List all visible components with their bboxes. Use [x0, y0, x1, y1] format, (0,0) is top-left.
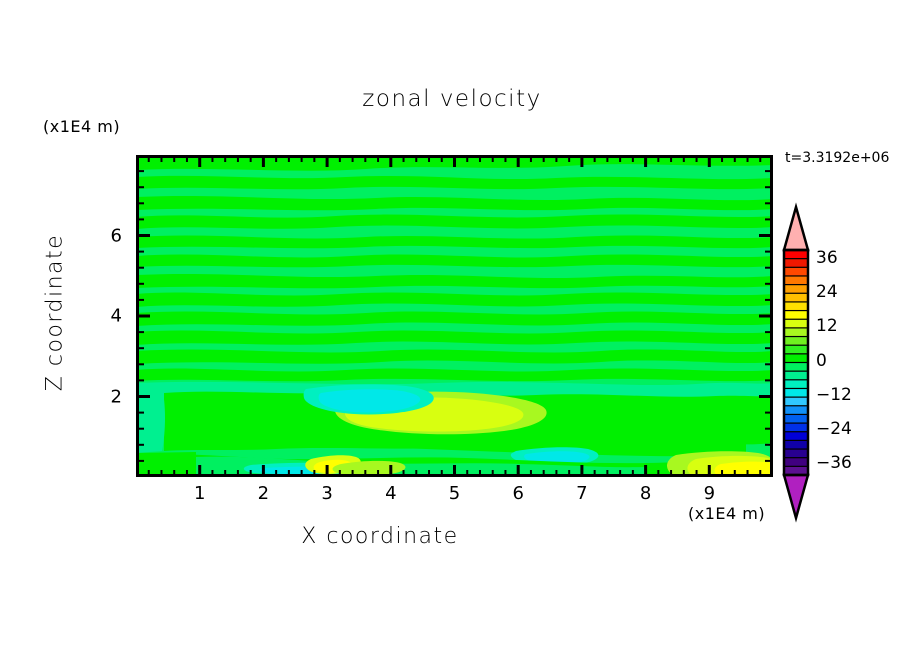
x-tick-label: 6 — [512, 483, 523, 504]
colorbar-svg — [782, 205, 810, 520]
colorbar-band — [784, 363, 808, 372]
colorbar-tick-label: 24 — [816, 282, 838, 302]
colorbar-tick-label: 0 — [816, 351, 827, 371]
timestamp-annotation: t=3.3192e+06 — [785, 150, 889, 166]
colorbar-band — [784, 293, 808, 302]
colorbar-bands — [784, 250, 808, 475]
x-tick-label: 1 — [194, 483, 205, 504]
colorbar-band — [784, 319, 808, 328]
x-axis-unit-label: (x1E4 m) — [688, 504, 765, 523]
colorbar-band — [784, 250, 808, 259]
colorbar-over-arrow — [784, 207, 808, 250]
colorbar-band — [784, 276, 808, 285]
colorbar-band — [784, 337, 808, 346]
x-tick-label: 8 — [640, 483, 651, 504]
figure-root: zonal velocity (x1E4 m) t=3.3192e+06 — [0, 0, 904, 654]
colorbar-band — [784, 406, 808, 415]
x-tick-label: 3 — [321, 483, 332, 504]
colorbar-band — [784, 371, 808, 380]
y-axis-unit-label: (x1E4 m) — [43, 117, 120, 136]
contour-field — [136, 155, 773, 477]
colorbar-band — [784, 414, 808, 423]
colorbar-band — [784, 449, 808, 458]
page-title: zonal velocity — [0, 86, 904, 112]
colorbar-tick-label: −12 — [816, 385, 852, 405]
colorbar-band — [784, 397, 808, 406]
colorbar-band — [784, 285, 808, 294]
colorbar-under-arrow — [784, 475, 808, 518]
colorbar-tick-label: −24 — [816, 419, 852, 439]
y-tick-label: 4 — [100, 306, 122, 327]
x-axis-title: X coordinate — [0, 524, 760, 549]
x-tick-label: 9 — [704, 483, 715, 504]
colorbar-band — [784, 345, 808, 354]
colorbar-band — [784, 432, 808, 441]
colorbar-band — [784, 328, 808, 337]
colorbar-band — [784, 380, 808, 389]
x-tick-label: 2 — [258, 483, 269, 504]
y-tick-label: 2 — [100, 386, 122, 407]
colorbar-band — [784, 458, 808, 467]
colorbar-band — [784, 423, 808, 432]
colorbar-band — [784, 354, 808, 363]
colorbar-band — [784, 440, 808, 449]
colorbar[interactable] — [782, 205, 810, 520]
x-tick-label: 4 — [385, 483, 396, 504]
y-axis-title: Z coordinate — [43, 213, 68, 413]
colorbar-band — [784, 311, 808, 320]
colorbar-tick-label: −36 — [816, 453, 852, 473]
colorbar-band — [784, 302, 808, 311]
colorbar-tick-label: 36 — [816, 248, 838, 268]
colorbar-band — [784, 267, 808, 276]
x-tick-label: 7 — [576, 483, 587, 504]
x-tick-label: 5 — [449, 483, 460, 504]
colorbar-tick-label: 12 — [816, 316, 838, 336]
y-tick-label: 6 — [100, 225, 122, 246]
colorbar-band — [784, 259, 808, 268]
contour-plot-area[interactable] — [136, 155, 773, 477]
colorbar-band — [784, 388, 808, 397]
